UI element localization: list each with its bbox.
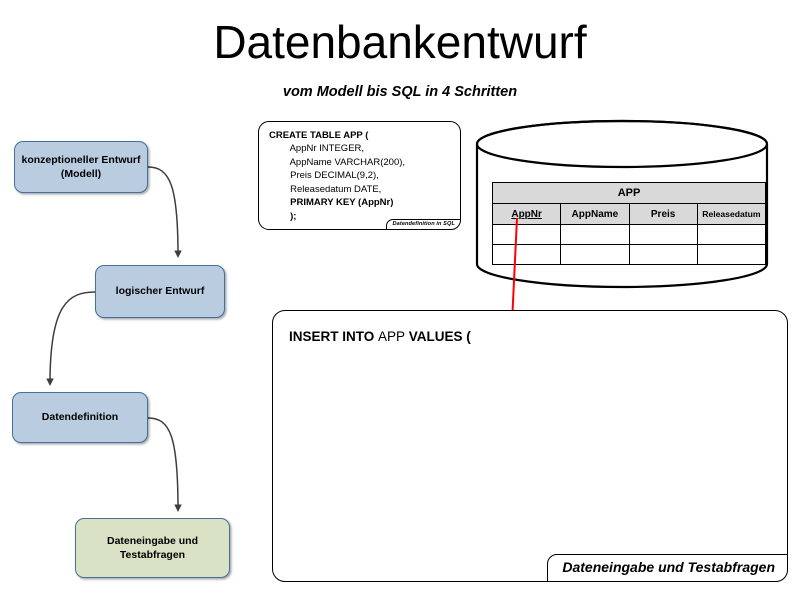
table-row[interactable]: [493, 245, 766, 265]
create-table-line-4: Preis DECIMAL(9,2),: [269, 170, 379, 181]
table-cell[interactable]: [561, 225, 629, 245]
table-cell[interactable]: [629, 225, 697, 245]
create-table-line-5: Releasedatum DATE,: [269, 184, 381, 195]
connector-step3-to-step4: [148, 418, 178, 509]
table-cell[interactable]: [493, 225, 561, 245]
create-table-line-6: PRIMARY KEY (AppNr): [269, 197, 393, 208]
insert-keyword-1: INSERT INTO: [289, 329, 378, 344]
create-table-panel[interactable]: CREATE TABLE APP ( AppNr INTEGER, AppNam…: [258, 121, 461, 230]
create-table-line-7: );: [269, 211, 296, 222]
page-title: Datenbankentwurf: [0, 18, 800, 66]
table-cell[interactable]: [493, 245, 561, 265]
column-header-preis: Preis: [629, 204, 697, 225]
flow-step-datendefinition[interactable]: Datendefinition: [12, 392, 148, 443]
table-header-row: AppNr AppName Preis Releasedatum: [493, 204, 766, 225]
column-header-appnr: AppNr: [493, 204, 561, 225]
flow-step-logischer-entwurf[interactable]: logischer Entwurf: [95, 265, 225, 318]
flow-step-label: Datendefinition: [42, 410, 118, 424]
create-table-code: CREATE TABLE APP ( AppNr INTEGER, AppNam…: [269, 129, 405, 223]
insert-into-caption: Dateneingabe und Testabfragen: [547, 554, 788, 582]
table-cell[interactable]: [697, 225, 765, 245]
column-header-releasedatum: Releasedatum: [697, 204, 765, 225]
table-cell[interactable]: [629, 245, 697, 265]
insert-into-code: INSERT INTO APP VALUES (: [289, 329, 471, 344]
flow-step-dateneingabe-testabfragen[interactable]: Dateneingabe und Testabfragen: [75, 518, 230, 578]
database-table-app[interactable]: APP AppNr AppName Preis Releasedatum: [492, 182, 766, 265]
table-title-row: APP: [493, 183, 766, 204]
flow-step-label: konzeptioneller Entwurf (Modell): [21, 153, 141, 181]
create-table-line-1: CREATE TABLE APP (: [269, 130, 368, 141]
table-cell[interactable]: [561, 245, 629, 265]
table-name-cell: APP: [493, 183, 766, 204]
insert-object-name: APP: [378, 329, 405, 344]
insert-keyword-2: VALUES (: [405, 329, 471, 344]
table-cell[interactable]: [697, 245, 765, 265]
table-row[interactable]: [493, 225, 766, 245]
create-table-line-3: AppName VARCHAR(200),: [269, 157, 405, 168]
create-table-line-2: AppNr INTEGER,: [269, 143, 364, 154]
create-table-caption: Datendefinition in SQL: [386, 219, 462, 230]
insert-into-panel[interactable]: INSERT INTO APP VALUES ( Dateneingabe un…: [272, 310, 788, 582]
connector-step1-to-step2: [148, 167, 178, 255]
connector-step2-to-step3: [50, 292, 95, 383]
column-header-appname: AppName: [561, 204, 629, 225]
page-subtitle: vom Modell bis SQL in 4 Schritten: [0, 84, 800, 100]
flow-step-label: Dateneingabe und Testabfragen: [82, 534, 223, 562]
flow-step-label: logischer Entwurf: [116, 284, 205, 298]
flow-step-konzeptioneller-entwurf[interactable]: konzeptioneller Entwurf (Modell): [14, 141, 148, 193]
